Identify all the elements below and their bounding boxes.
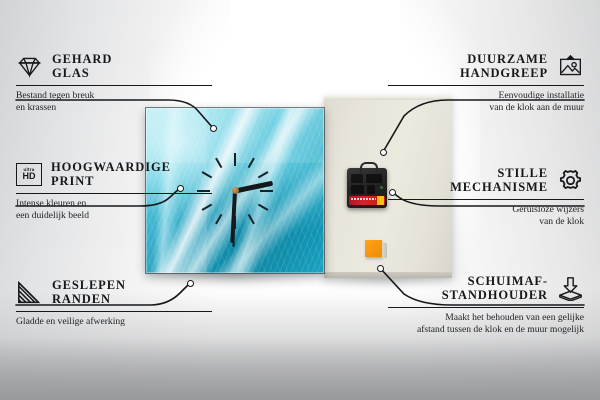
feature-divider xyxy=(388,199,584,200)
feature-stille-mechanisme: STILLEMECHANISME Geruisloze wijzersvan d… xyxy=(388,166,584,227)
feature-title: GEHARDGLAS xyxy=(52,52,112,80)
feature-gehard-glas: GEHARDGLAS Bestand tegen breuken krassen xyxy=(16,52,212,113)
feature-title: STILLEMECHANISME xyxy=(450,166,548,194)
ultra-hd-badge-icon: ultra HD xyxy=(16,163,42,186)
feature-description: Intense kleuren eneen duidelijk beeld xyxy=(16,198,212,221)
feature-geslepen-randen: GESLEPENRANDEN Gladde en veilige afwerki… xyxy=(16,278,212,328)
feature-title: HOOGWAARDIGEPRINT xyxy=(51,160,171,188)
connector-node-gehard-glas xyxy=(210,125,217,132)
diamond-icon xyxy=(16,54,43,79)
connector-node-schuimafstandhouder xyxy=(377,265,384,272)
feature-title: SCHUIMAF-STANDHOUDER xyxy=(442,274,548,302)
feature-header: GEHARDGLAS xyxy=(16,52,212,80)
feature-description: Gladde en veilige afwerking xyxy=(16,316,212,327)
infographic-canvas: GEHARDGLAS Bestand tegen breuken krassen… xyxy=(0,0,600,400)
feature-description: Eenvoudige installatievan de klok aan de… xyxy=(388,90,584,113)
feature-description: Geruisloze wijzersvan de klok xyxy=(388,204,584,227)
feature-divider xyxy=(388,307,584,308)
feature-description: Bestand tegen breuken krassen xyxy=(16,90,212,113)
feature-title: DUURZAMEHANDGREEP xyxy=(460,52,548,80)
feature-title: GESLEPENRANDEN xyxy=(52,278,126,306)
beveled-edge-icon xyxy=(16,280,43,305)
feature-divider xyxy=(16,85,212,86)
feature-schuimafstandhouder: SCHUIMAF-STANDHOUDER Maakt het behouden … xyxy=(388,274,584,335)
feature-header: DUURZAMEHANDGREEP xyxy=(388,52,584,80)
arrow-down-spacer-icon xyxy=(557,276,584,301)
feature-divider xyxy=(16,193,212,194)
framed-picture-hanger-icon xyxy=(557,54,584,79)
feature-header: STILLEMECHANISME xyxy=(388,166,584,194)
feature-header: GESLEPENRANDEN xyxy=(16,278,212,306)
gear-icon xyxy=(557,168,584,193)
feature-divider xyxy=(388,85,584,86)
feature-duurzame-handgreep: DUURZAMEHANDGREEP Eenvoudige installatie… xyxy=(388,52,584,113)
ultra-hd-badge-main-text: HD xyxy=(23,172,36,182)
connector-node-duurzame-handgreep xyxy=(380,149,387,156)
feature-header: ultra HD HOOGWAARDIGEPRINT xyxy=(16,160,212,188)
feature-divider xyxy=(16,311,212,312)
feature-description: Maakt het behouden van een gelijkeafstan… xyxy=(388,312,584,335)
feature-hoogwaardige-print: ultra HD HOOGWAARDIGEPRINT Intense kleur… xyxy=(16,160,212,221)
feature-header: SCHUIMAF-STANDHOUDER xyxy=(388,274,584,302)
